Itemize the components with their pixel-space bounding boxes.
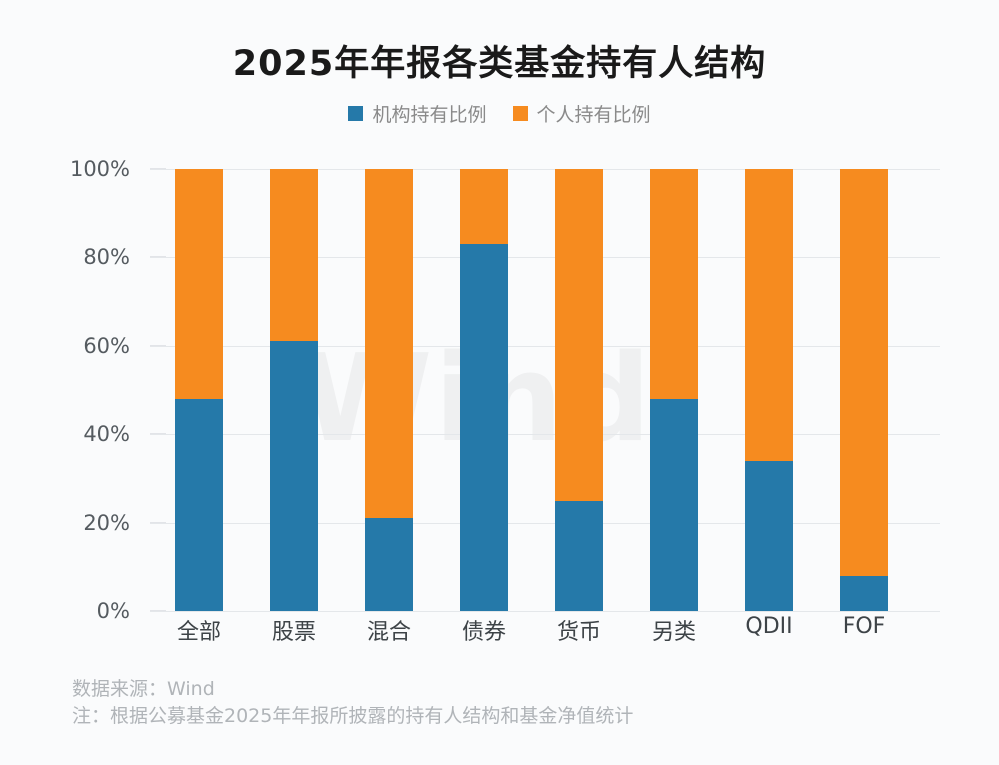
chart-footer: 数据来源：Wind 注：根据公募基金2025年年报所披露的持有人结构和基金净值统…: [72, 676, 633, 730]
gridline: [150, 434, 940, 435]
gridline: [150, 523, 940, 524]
bar-stack[interactable]: [460, 169, 508, 611]
y-axis-tick-label: 80%: [50, 245, 130, 269]
legend-swatch-individual-icon: [513, 106, 528, 121]
bar-segment-institutional[interactable]: [365, 518, 413, 611]
bar-stack[interactable]: [365, 169, 413, 611]
legend-label-institutional: 机构持有比例: [372, 100, 486, 127]
bar-segment-institutional[interactable]: [460, 244, 508, 611]
chart-card: 2025年年报各类基金持有人结构 机构持有比例 个人持有比例 Wind 0%20…: [0, 0, 999, 765]
x-axis-tick-label: FOF: [804, 614, 924, 639]
bar-segment-individual[interactable]: [365, 169, 413, 518]
footer-note: 注：根据公募基金2025年年报所披露的持有人结构和基金净值统计: [72, 703, 633, 730]
bar-stack[interactable]: [555, 169, 603, 611]
y-axis-tick-label: 40%: [50, 422, 130, 446]
gridline: [150, 169, 940, 170]
y-axis-tick-label: 0%: [50, 599, 130, 623]
gridline: [150, 257, 940, 258]
bar-segment-individual[interactable]: [745, 169, 793, 461]
plot-area: [150, 169, 940, 611]
y-axis-tick-label: 20%: [50, 511, 130, 535]
legend-item-institutional[interactable]: 机构持有比例: [348, 100, 486, 127]
bar-stack[interactable]: [650, 169, 698, 611]
y-axis-tick-label: 100%: [50, 157, 130, 181]
x-axis: 全部股票混合债券货币另类QDIIFOF: [150, 614, 940, 654]
bar-segment-institutional[interactable]: [745, 461, 793, 611]
bar-segment-institutional[interactable]: [840, 576, 888, 611]
bar-segment-institutional[interactable]: [175, 399, 223, 611]
bar-segment-institutional[interactable]: [650, 399, 698, 611]
chart-legend: 机构持有比例 个人持有比例: [0, 100, 999, 127]
bar-stack[interactable]: [745, 169, 793, 611]
footer-source: 数据来源：Wind: [72, 676, 633, 703]
gridline: [150, 611, 940, 612]
bar-segment-institutional[interactable]: [555, 501, 603, 612]
bar-segment-individual[interactable]: [270, 169, 318, 341]
bar-segment-individual[interactable]: [650, 169, 698, 399]
y-axis-tick-label: 60%: [50, 334, 130, 358]
bar-stack[interactable]: [270, 169, 318, 611]
bar-segment-institutional[interactable]: [270, 341, 318, 611]
bar-segment-individual[interactable]: [840, 169, 888, 576]
bar-stack[interactable]: [175, 169, 223, 611]
bar-stack[interactable]: [840, 169, 888, 611]
gridline: [150, 346, 940, 347]
bar-segment-individual[interactable]: [555, 169, 603, 501]
y-axis: 0%20%40%60%80%100%: [50, 169, 130, 611]
legend-label-individual: 个人持有比例: [537, 100, 651, 127]
chart-title: 2025年年报各类基金持有人结构: [0, 35, 999, 86]
bar-segment-individual[interactable]: [175, 169, 223, 399]
legend-item-individual[interactable]: 个人持有比例: [513, 100, 651, 127]
bar-segment-individual[interactable]: [460, 169, 508, 244]
legend-swatch-institutional-icon: [348, 106, 363, 121]
